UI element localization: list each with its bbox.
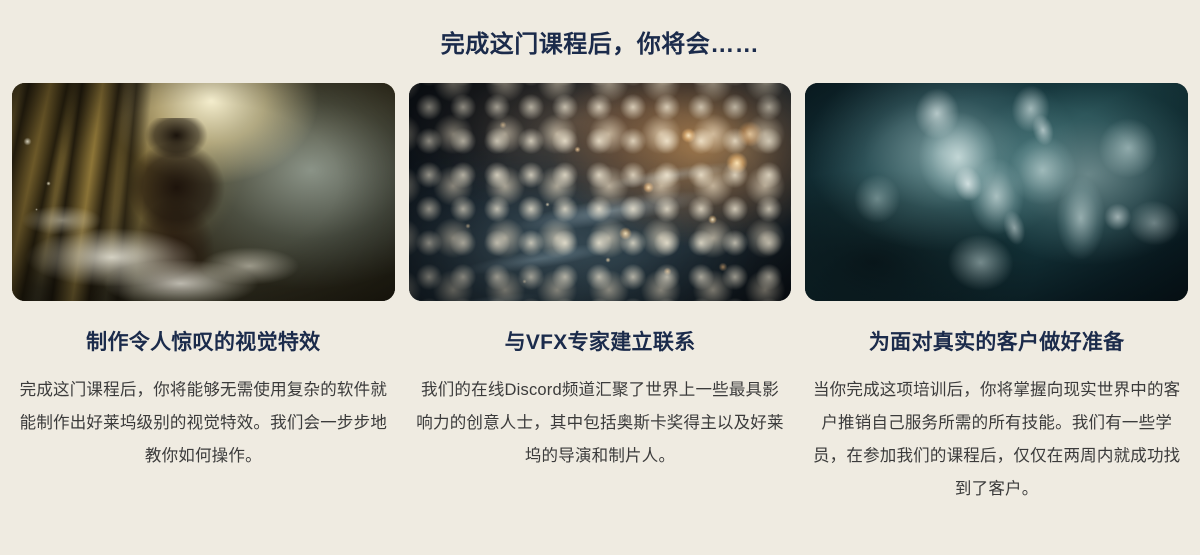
card-body-3: 当你完成这项培训后，你将掌握向现实世界中的客户推销自己服务所需的所有技能。我们有… xyxy=(805,374,1188,506)
section-title: 完成这门课程后，你将会…… xyxy=(0,0,1200,57)
benefit-cards-row: 制作令人惊叹的视觉特效 完成这门课程后，你将能够无需使用复杂的软件就能制作出好莱… xyxy=(0,83,1200,506)
benefit-card-3: 为面对真实的客户做好准备 当你完成这项培训后，你将掌握向现实世界中的客户推销自己… xyxy=(805,83,1188,506)
card-image-golden-embers-nebula xyxy=(409,83,792,301)
card-image-teal-smoke-swirls xyxy=(805,83,1188,301)
benefits-section: 完成这门课程后，你将会…… 制作令人惊叹的视觉特效 完成这门课程后，你将能够无需… xyxy=(0,0,1200,555)
card-heading-2: 与VFX专家建立联系 xyxy=(409,332,792,353)
card-heading-1: 制作令人惊叹的视觉特效 xyxy=(12,332,395,353)
image-vignette-layer xyxy=(12,83,395,301)
card-body-2: 我们的在线Discord频道汇聚了世界上一些最具影响力的创意人士，其中包括奥斯卡… xyxy=(409,374,792,473)
benefit-card-1: 制作令人惊叹的视觉特效 完成这门课程后，你将能够无需使用复杂的软件就能制作出好莱… xyxy=(12,83,395,506)
image-vignette-layer xyxy=(409,83,792,301)
card-body-1: 完成这门课程后，你将能够无需使用复杂的软件就能制作出好莱坞级别的视觉特效。我们会… xyxy=(12,374,395,473)
card-heading-3: 为面对真实的客户做好准备 xyxy=(805,332,1188,353)
card-image-warrior-in-golden-water xyxy=(12,83,395,301)
benefit-card-2: 与VFX专家建立联系 我们的在线Discord频道汇聚了世界上一些最具影响力的创… xyxy=(409,83,792,506)
image-vignette-layer xyxy=(805,83,1188,301)
